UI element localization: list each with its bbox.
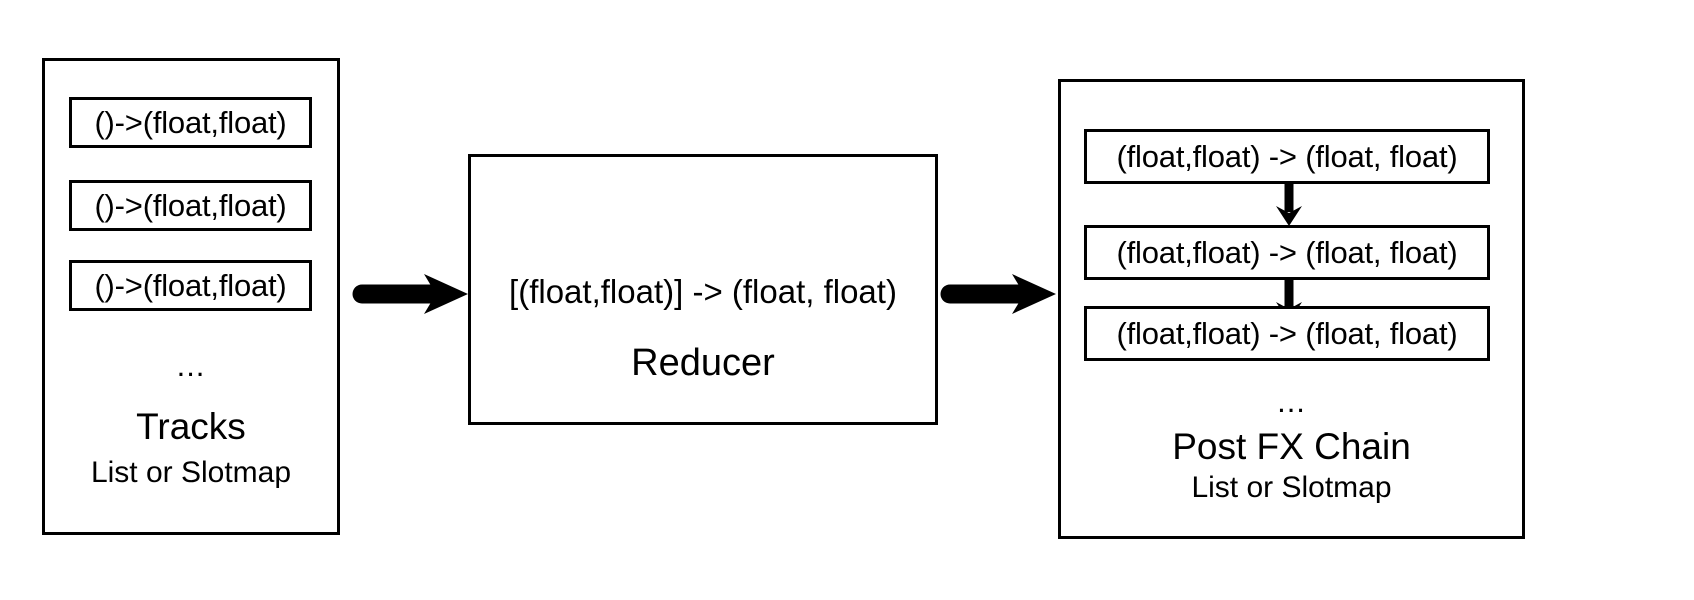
fx-item-1[interactable]: (float,float) -> (float, float)	[1084, 129, 1490, 184]
fx-item-3[interactable]: (float,float) -> (float, float)	[1084, 306, 1490, 361]
fx-item-2-label: (float,float) -> (float, float)	[1117, 237, 1458, 268]
postfx-subtitle: List or Slotmap	[1058, 473, 1525, 503]
reducer-signature: [(float,float)] -> (float, float)	[468, 275, 938, 308]
diagram-canvas: ()->(float,float) ()->(float,float) ()->…	[0, 0, 1694, 600]
track-item-1[interactable]: ()->(float,float)	[69, 97, 312, 148]
track-item-1-label: ()->(float,float)	[94, 107, 286, 138]
fx-item-1-label: (float,float) -> (float, float)	[1117, 141, 1458, 172]
arrow-tracks-to-reducer	[352, 272, 472, 316]
fx-item-2[interactable]: (float,float) -> (float, float)	[1084, 225, 1490, 280]
fx-link-arrow-1	[1272, 182, 1306, 226]
track-item-3[interactable]: ()->(float,float)	[69, 260, 312, 311]
fx-item-3-label: (float,float) -> (float, float)	[1117, 318, 1458, 349]
track-item-2-label: ()->(float,float)	[94, 190, 286, 221]
postfx-title: Post FX Chain	[1058, 428, 1525, 465]
tracks-title: Tracks	[42, 408, 340, 445]
track-item-2[interactable]: ()->(float,float)	[69, 180, 312, 231]
postfx-ellipsis: ...	[1058, 386, 1525, 417]
track-item-3-label: ()->(float,float)	[94, 270, 286, 301]
tracks-ellipsis: ...	[42, 350, 340, 381]
arrow-reducer-to-postfx	[940, 272, 1060, 316]
tracks-subtitle: List or Slotmap	[42, 458, 340, 488]
reducer-title: Reducer	[468, 344, 938, 382]
